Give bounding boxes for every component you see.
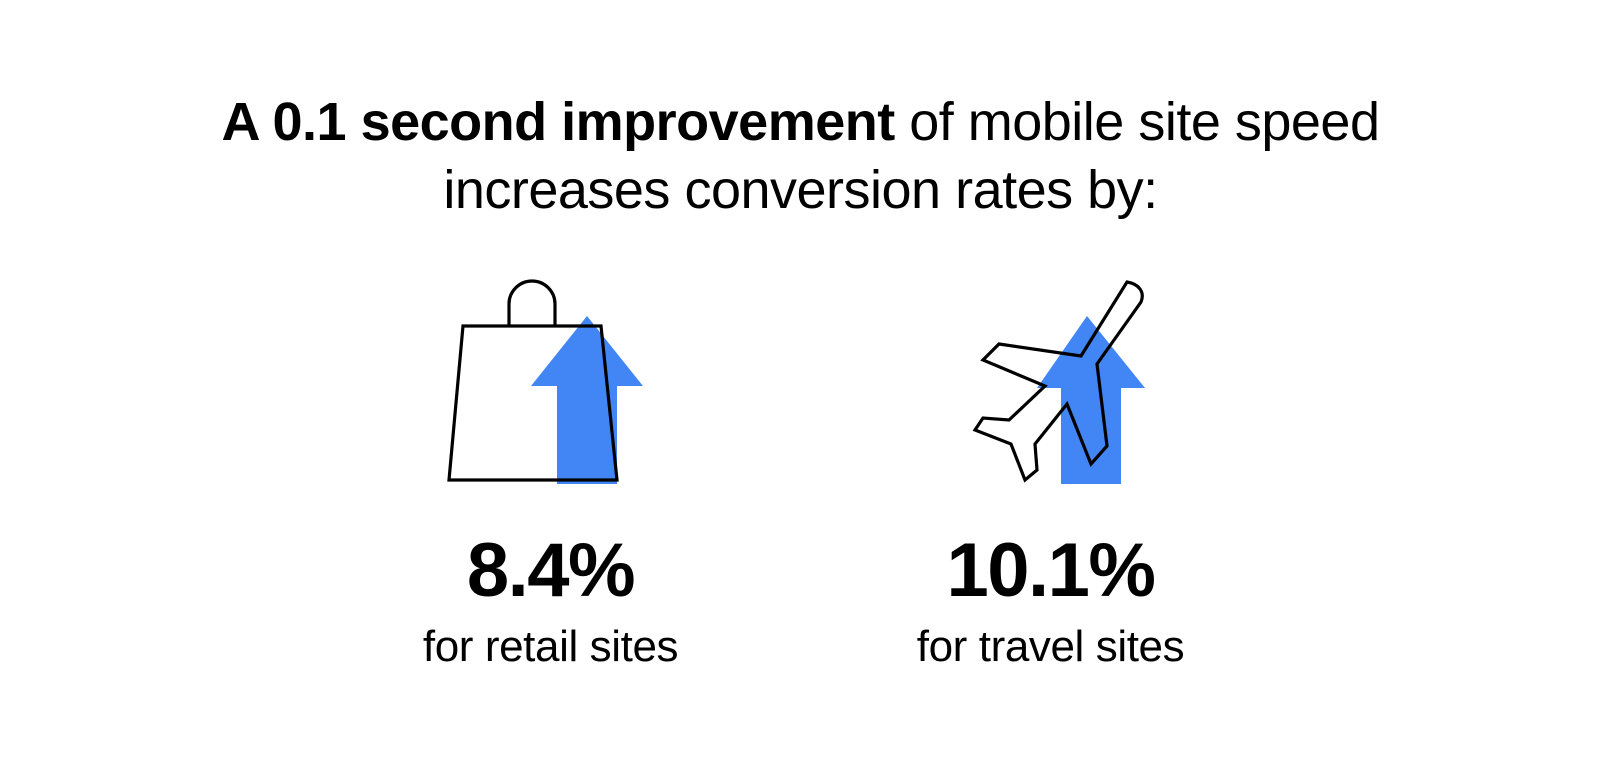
stat-caption-retail: for retail sites (423, 622, 678, 672)
infographic-root: A 0.1 second improvement of mobile site … (0, 0, 1601, 782)
headline-rest: of mobile site speed (895, 92, 1380, 152)
shopping-bag-with-up-arrow-icon (431, 268, 671, 488)
page-title: A 0.1 second improvement of mobile site … (0, 88, 1601, 224)
stat-retail: 8.4% for retail sites (391, 268, 711, 672)
stats-row: 8.4% for retail sites 10.1% for travel s… (0, 268, 1601, 672)
stat-caption-travel: for travel sites (917, 622, 1184, 672)
stat-value-travel: 10.1% (947, 532, 1155, 610)
stat-value-retail: 8.4% (467, 532, 634, 610)
stat-travel: 10.1% for travel sites (891, 268, 1211, 672)
headline-line2: increases conversion rates by: (443, 160, 1157, 220)
headline-emphasis: A 0.1 second improvement (222, 92, 895, 152)
airplane-with-up-arrow-icon (931, 268, 1171, 488)
